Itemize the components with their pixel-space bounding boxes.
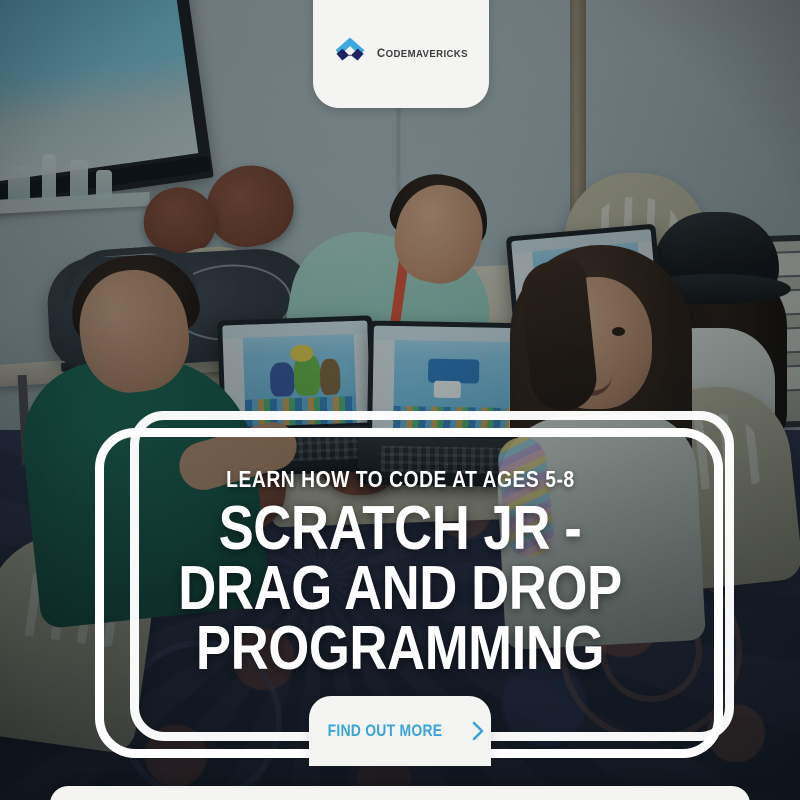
brand-lockup[interactable]: CodeMavericks [333,35,470,69]
promo-canvas: CodeMavericks LEARN HOW TO CODE AT AGES … [0,0,800,800]
chevron-stack-logo-icon [333,35,367,69]
footer-panel [50,786,750,800]
brand-wordmark: CodeMavericks [376,42,467,62]
hero-eyebrow: LEARN HOW TO CODE AT AGES 5-8 [226,466,574,493]
hero-headline: SCRATCH JR - DRAG AND DROP PROGRAMMING [141,499,660,679]
find-out-more-button[interactable]: FIND OUT MORE [309,696,491,766]
chevron-right-icon [471,721,485,741]
hero-content: LEARN HOW TO CODE AT AGES 5-8 SCRATCH JR… [95,428,705,740]
cta-label: FIND OUT MORE [328,721,443,741]
brand-header-panel[interactable]: CodeMavericks [313,0,489,108]
